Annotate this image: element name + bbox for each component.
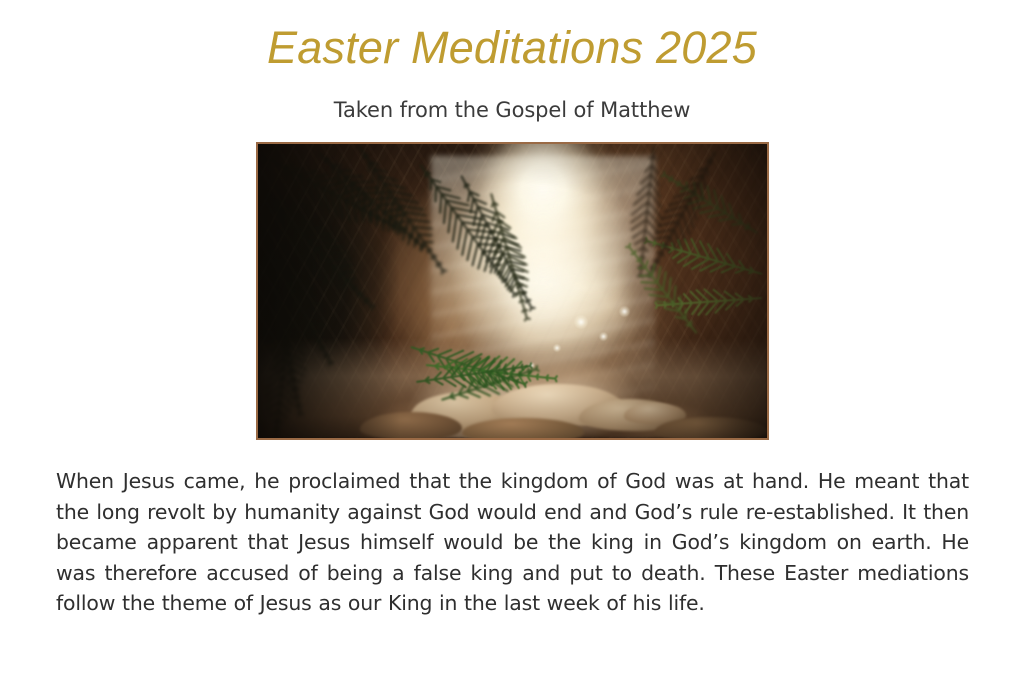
image-vignette — [258, 144, 767, 438]
body-paragraph: When Jesus came, he proclaimed that the … — [56, 466, 969, 619]
empty-tomb-image — [256, 142, 769, 440]
image-stage — [258, 144, 767, 438]
page-subtitle: Taken from the Gospel of Matthew — [0, 98, 1024, 122]
slide-canvas: Easter Meditations 2025 Taken from the G… — [0, 0, 1024, 680]
page-title: Easter Meditations 2025 — [0, 22, 1024, 74]
